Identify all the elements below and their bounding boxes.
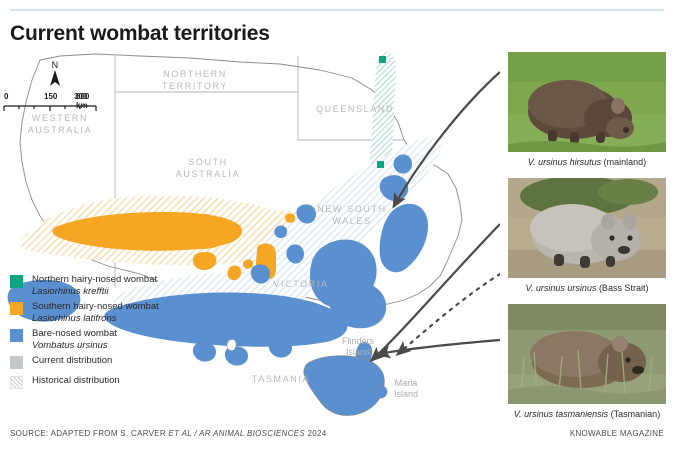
legend-label-scientific-0: Lasiorhinus krefftii: [32, 286, 157, 298]
legend-swatch-orange: [10, 302, 23, 315]
photo-block-mainland: V. ursinus hirsutus (mainland): [508, 52, 666, 168]
photo-caption-sci-0: V. ursinus hirsutus: [528, 157, 601, 167]
legend-label-common-3: Current distribution: [32, 355, 112, 366]
photo-block-bass-strait: V. ursinus ursinus (Bass Strait): [508, 178, 666, 294]
scale-tick-150: 150: [44, 92, 57, 101]
legend-label-common-0: Northern hairy-nosed wombat: [32, 274, 157, 285]
source-suffix: 2024: [305, 429, 327, 438]
arrow-to-tasmania: [378, 340, 500, 354]
scale-tick-0: 0: [4, 92, 8, 101]
photo-caption-region-1: (Bass Strait): [599, 283, 649, 293]
wombat-bass-strait-photo: [508, 178, 666, 278]
island-label-maria: Maria Island: [382, 378, 430, 400]
photo-block-tasmanian: V. ursinus tasmaniensis (Tasmanian): [508, 304, 666, 420]
page-title: Current wombat territories: [10, 22, 270, 46]
source-italic: ET AL / AR ANIMAL BIOSCIENCES: [169, 429, 305, 438]
legend-swatch-green: [10, 275, 23, 288]
source-line: SOURCE: ADAPTED FROM S. CARVER ET AL / A…: [10, 429, 327, 438]
legend-label-scientific-1: Lasiorhinus latifrons: [32, 313, 159, 325]
photo-caption-mainland: V. ursinus hirsutus (mainland): [508, 152, 666, 168]
legend-item-northern-hairy-nosed: Northern hairy-nosed wombat Lasiorhinus …: [10, 274, 225, 297]
photo-caption-sci-1: V. ursinus ursinus: [526, 283, 597, 293]
north-label: N: [45, 60, 65, 70]
wombat-mainland-photo: [508, 52, 666, 152]
photo-caption-sci-2: V. ursinus tasmaniensis: [514, 409, 608, 419]
brand-label: KNOWABLE MAGAZINE: [570, 429, 664, 438]
scale-tick-600: 600 km: [76, 92, 89, 110]
legend-item-southern-hairy-nosed: Southern hairy-nosed wombat Lasiorhinus …: [10, 301, 225, 324]
map-legend: Northern hairy-nosed wombat Lasiorhinus …: [10, 274, 225, 395]
top-divider: [10, 9, 664, 11]
photo-caption-bass-strait: V. ursinus ursinus (Bass Strait): [508, 278, 666, 294]
photo-caption-region-2: (Tasmanian): [611, 409, 661, 419]
source-prefix: SOURCE: ADAPTED FROM S. CARVER: [10, 429, 169, 438]
scale-bar-labels: 0 150 300 600 km: [2, 92, 120, 103]
island-label-flinders: Flinders Island: [330, 336, 386, 358]
legend-swatch-hatch: [10, 376, 23, 389]
infographic-root: Current wombat territories: [0, 0, 674, 450]
legend-label-common-1: Southern hairy-nosed wombat: [32, 301, 159, 312]
legend-swatch-blue: [10, 329, 23, 342]
photo-column: V. ursinus hirsutus (mainland): [508, 52, 666, 430]
photo-caption-region-0: (mainland): [604, 157, 647, 167]
legend-swatch-grey: [10, 356, 23, 369]
legend-item-historical-distribution: Historical distribution: [10, 375, 225, 391]
legend-item-bare-nosed: Bare-nosed wombat Vombatus ursinus: [10, 328, 225, 351]
wombat-tasmanian-photo: [508, 304, 666, 404]
photo-caption-tasmanian: V. ursinus tasmaniensis (Tasmanian): [508, 404, 666, 420]
footer: SOURCE: ADAPTED FROM S. CARVER ET AL / A…: [10, 429, 664, 443]
legend-item-current-distribution: Current distribution: [10, 355, 225, 371]
legend-label-common-2: Bare-nosed wombat: [32, 328, 117, 339]
legend-label-scientific-2: Vombatus ursinus: [32, 340, 117, 352]
legend-label-common-4: Historical distribution: [32, 375, 120, 386]
